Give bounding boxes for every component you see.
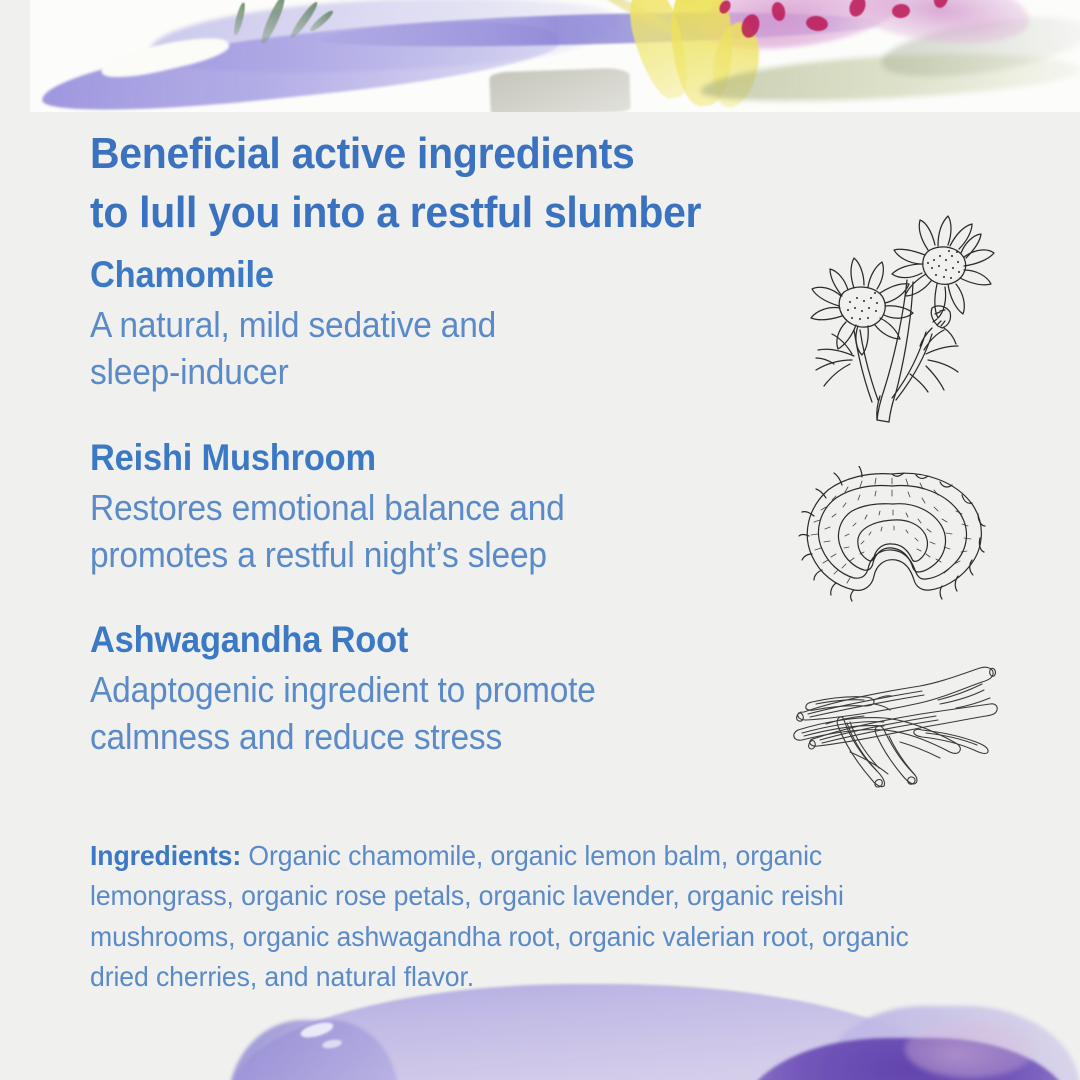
ingredient-description: Adaptogenic ingredient to promote calmne…	[90, 667, 741, 761]
page-title: Beneficial active ingredients to lull yo…	[90, 125, 741, 241]
ingredients-label: Ingredients:	[90, 840, 241, 871]
ingredient-name: Reishi Mushroom	[90, 437, 741, 478]
ingredient-name: Ashwagandha Root	[90, 619, 741, 660]
ashwagandha-root-icon	[790, 656, 1002, 788]
content-layer: Beneficial active ingredients to lull yo…	[0, 0, 1080, 1080]
ingredient-block-reishi-mushroom: Reishi Mushroom Restores emotional balan…	[90, 437, 790, 579]
ingredient-description: Restores emotional balance and promotes …	[90, 485, 741, 579]
ingredient-name: Chamomile	[90, 254, 741, 295]
infographic-page: Beneficial active ingredients to lull yo…	[0, 0, 1080, 1080]
ingredient-description: A natural, mild sedative and sleep-induc…	[90, 302, 741, 396]
reishi-mushroom-icon	[796, 466, 994, 606]
ingredient-block-chamomile: Chamomile A natural, mild sedative and s…	[90, 254, 790, 396]
ingredient-block-ashwagandha-root: Ashwagandha Root Adaptogenic ingredient …	[90, 619, 790, 761]
chamomile-flower-icon	[792, 214, 1008, 426]
ingredients-statement: Ingredients: Organic chamomile, organic …	[90, 836, 959, 997]
